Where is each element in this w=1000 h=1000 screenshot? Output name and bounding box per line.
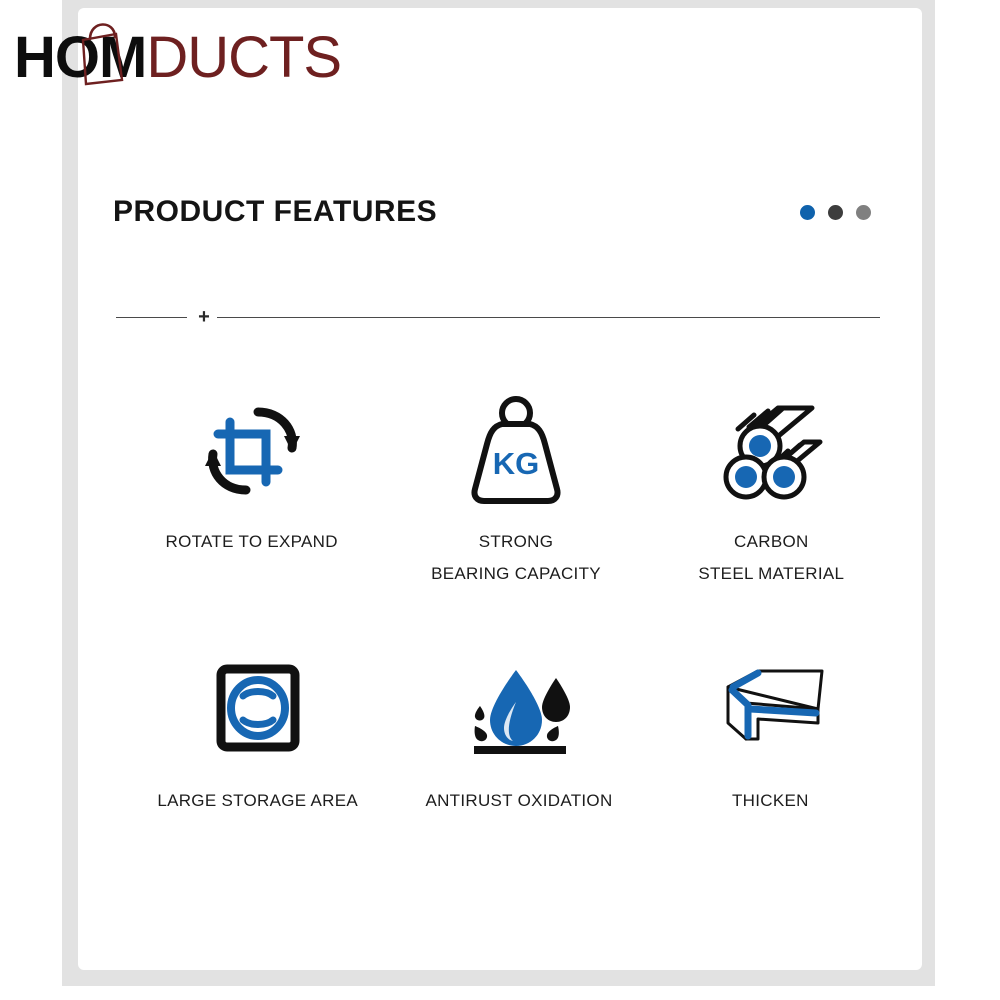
feature-label: STRONG BEARING CAPACITY [431,526,601,591]
carbon-steel-pipes-icon [716,390,826,510]
page-title: PRODUCT FEATURES [113,195,437,229]
features-grid: ROTATE TO EXPAND KG STRONG BEARING CAPAC… [116,390,882,817]
antirust-water-drop-icon [460,653,578,763]
carousel-pagination[interactable] [800,205,883,220]
features-row-1: ROTATE TO EXPAND KG STRONG BEARING CAPAC… [116,390,882,591]
feature-item-antirust-oxidation[interactable]: ANTIRUST OXIDATION [391,653,646,817]
pagination-dot-3[interactable] [856,205,871,220]
large-storage-area-icon [212,653,304,763]
divider-line-right [217,317,880,318]
rotate-expand-icon [196,390,308,510]
feature-label: ROTATE TO EXPAND [166,526,338,558]
pagination-dot-1[interactable] [800,205,815,220]
brand-wordmark: HOMDUCTS [14,22,341,94]
feature-item-large-storage-area[interactable]: LARGE STORAGE AREA [130,653,385,817]
divider-line-left [116,317,187,318]
brand-logo[interactable]: HOMDUCTS [14,22,341,94]
feature-label: THICKEN [732,785,809,817]
page-root: HOMDUCTS PRODUCT FEATURES + [0,0,1000,1000]
feature-label: CARBON STEEL MATERIAL [698,526,844,591]
features-row-2: LARGE STORAGE AREA [116,653,882,817]
brand-name-secondary: DUCTS [146,25,341,90]
feature-item-rotate-to-expand[interactable]: ROTATE TO EXPAND [124,390,379,591]
feature-label: LARGE STORAGE AREA [157,785,358,817]
weight-icon-text: KG [493,446,540,481]
section-divider: + [116,304,880,330]
feature-item-thicken[interactable]: THICKEN [643,653,898,817]
section-header: PRODUCT FEATURES [113,188,883,236]
brand-name-primary: HOM [14,25,146,90]
feature-label: ANTIRUST OXIDATION [425,785,612,817]
divider-plus-mark: + [195,304,213,330]
feature-item-carbon-steel[interactable]: CARBON STEEL MATERIAL [644,390,899,591]
weight-kg-icon: KG [464,390,568,510]
thicken-angle-profile-icon [712,653,828,763]
pagination-dot-2[interactable] [828,205,843,220]
feature-item-bearing-capacity[interactable]: KG STRONG BEARING CAPACITY [388,390,643,591]
